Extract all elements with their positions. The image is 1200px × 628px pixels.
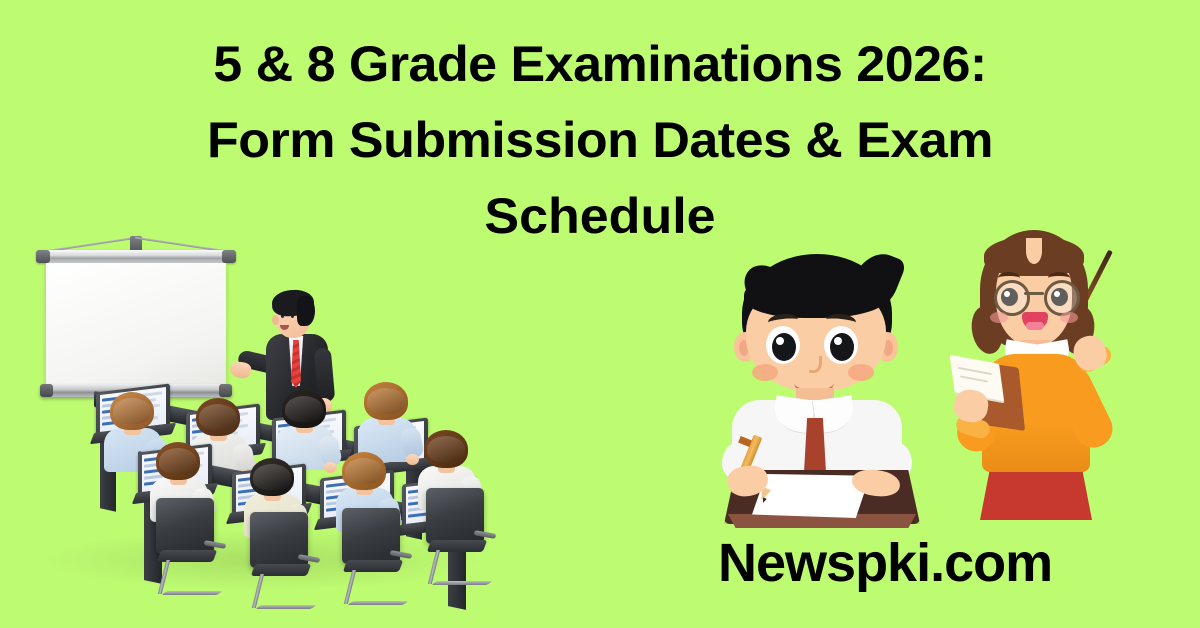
chair-base-rail xyxy=(255,605,317,609)
chair xyxy=(250,512,308,608)
chair-base-rail xyxy=(161,591,223,595)
student-hair xyxy=(196,398,240,436)
boy-hair-fringe xyxy=(744,272,888,318)
student-hair xyxy=(250,458,294,496)
chair xyxy=(426,488,484,584)
projector-screen xyxy=(36,236,236,412)
presenter-hair-side xyxy=(297,296,315,326)
screen-bar-cap-left xyxy=(36,250,50,263)
schoolboy-illustration xyxy=(716,252,952,530)
boy-eye-glint-left xyxy=(776,337,784,345)
page-title: 5 & 8 Grade Examinations 2026: Form Subm… xyxy=(0,26,1200,254)
student-hair xyxy=(110,392,154,430)
presenter-ear xyxy=(272,315,279,325)
student-hair xyxy=(156,442,200,480)
headline-line-2: Form Submission Dates & Exam xyxy=(0,102,1200,178)
glasses-lens-right xyxy=(1044,280,1080,316)
teacher-cheek-right xyxy=(1060,312,1078,323)
classroom-illustration xyxy=(18,230,518,620)
screen-bottom-cap-left xyxy=(40,384,53,397)
chair-back xyxy=(342,508,400,564)
student-hair xyxy=(424,430,468,468)
chair-base-rail xyxy=(347,601,409,605)
chair-frame xyxy=(158,560,170,594)
screen-bar-cap-right xyxy=(222,250,236,263)
chair-frame xyxy=(344,570,356,604)
chair-frame xyxy=(252,574,264,608)
boy-pupil-right xyxy=(830,333,854,361)
screen-bottom-cap-right xyxy=(219,384,232,397)
teacher-cheek-left xyxy=(990,312,1008,323)
screen-top-bar xyxy=(36,250,236,263)
chair xyxy=(156,498,214,594)
chair-back xyxy=(156,498,214,554)
chair-back xyxy=(250,512,308,568)
chair-back xyxy=(426,488,484,544)
site-brand: Newspki.com xyxy=(718,531,1052,595)
chair-base-rail xyxy=(431,581,493,585)
glasses-icon xyxy=(994,280,1030,316)
student-figure xyxy=(276,390,334,466)
boy-cheek-right xyxy=(848,364,874,381)
boy-eye-glint-right xyxy=(834,337,842,345)
screen-canvas xyxy=(46,263,226,387)
student-hair xyxy=(364,382,408,420)
chair-frame xyxy=(428,550,440,584)
promo-banner: 5 & 8 Grade Examinations 2026: Form Subm… xyxy=(0,0,1200,628)
teacher-illustration xyxy=(938,228,1188,524)
student-hair xyxy=(342,452,386,490)
glasses-bridge xyxy=(1024,292,1044,295)
headline-line-1: 5 & 8 Grade Examinations 2026: xyxy=(0,26,1200,102)
chair xyxy=(342,508,400,604)
boy-pupil-left xyxy=(772,333,796,361)
hanger-knob xyxy=(130,236,142,251)
student-figure xyxy=(358,382,416,458)
teacher-tongue xyxy=(1026,322,1044,330)
boy-cheek-left xyxy=(752,364,778,381)
teacher-hair-part xyxy=(1026,238,1042,264)
student-hair xyxy=(282,390,326,428)
